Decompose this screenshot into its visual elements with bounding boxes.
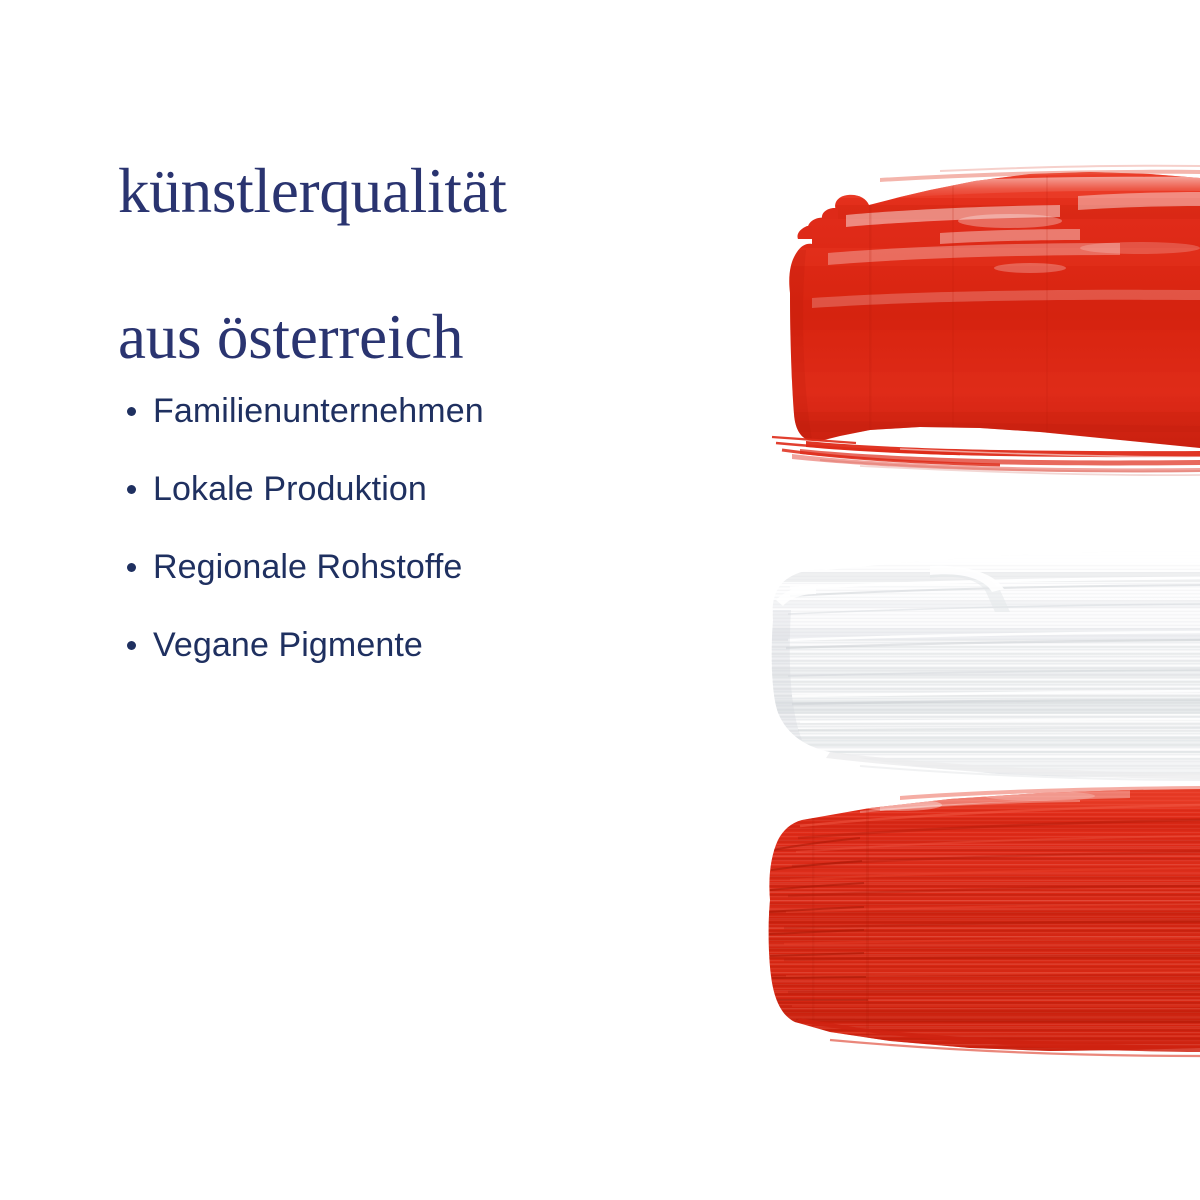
top-red-left-edge <box>797 208 838 239</box>
white-bottom-edge <box>826 752 1200 780</box>
feature-label: Lokale Produktion <box>153 470 427 509</box>
top-red-top-edge-wisps <box>880 166 1200 182</box>
feature-list: Familienunternehmen Lokale Produktion Re… <box>127 372 747 684</box>
list-item: Regionale Rohstoffe <box>127 528 747 606</box>
feature-label: Regionale Rohstoffe <box>153 548 462 587</box>
poster-canvas: künstlerqualität aus österreich Familien… <box>0 0 1200 1200</box>
middle-white-stroke <box>760 545 1200 786</box>
headline-line-2: aus österreich <box>118 301 758 374</box>
list-item: Lokale Produktion <box>127 450 747 528</box>
feature-label: Familienunternehmen <box>153 392 484 431</box>
bullet-dot-icon <box>127 485 136 494</box>
bottom-red-bottom-edge <box>795 1018 1200 1056</box>
bottom-red-top-edge <box>900 786 1200 800</box>
list-item: Familienunternehmen <box>127 372 747 450</box>
top-red-bristle-streaks <box>772 437 1200 475</box>
headline-line-1: künstlerqualität <box>118 155 758 228</box>
top-red-stroke <box>760 166 1200 475</box>
bottom-red-stroke <box>760 785 1200 1060</box>
text-column: künstlerqualität aus österreich Familien… <box>118 82 758 447</box>
feature-label: Vegane Pigmente <box>153 626 423 665</box>
bullet-dot-icon <box>127 563 136 572</box>
list-item: Vegane Pigmente <box>127 606 747 684</box>
bullet-dot-icon <box>127 407 136 416</box>
bullet-dot-icon <box>127 641 136 650</box>
